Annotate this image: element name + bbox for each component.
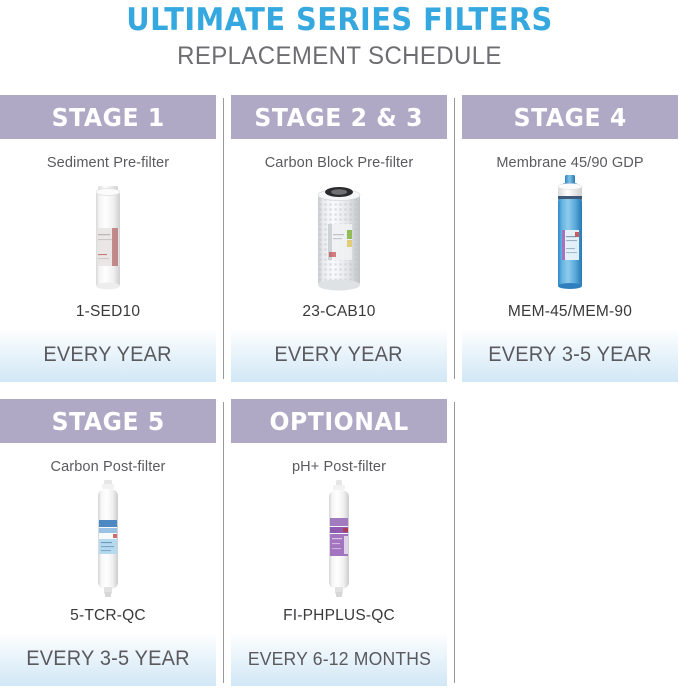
filter-row-2: STAGE 5 Carbon Post-filter	[0, 399, 679, 686]
filter-card-optional[interactable]: OPTIONAL pH+ Post-filter	[231, 399, 447, 686]
replacement-frequency: EVERY 6-12 MONTHS	[247, 648, 430, 670]
filter-type-label: Sediment Pre-filter	[3, 154, 213, 171]
replacement-frequency-band: EVERY 3-5 YEAR	[0, 632, 216, 686]
stage-title: STAGE 4	[513, 103, 626, 132]
model-number: FI-PHPLUS-QC	[234, 607, 444, 625]
stage-title: STAGE 2 & 3	[255, 103, 424, 132]
model-number: MEM-45/MEM-90	[465, 303, 675, 321]
replacement-frequency: EVERY 3-5 YEAR	[26, 647, 189, 671]
replacement-frequency: EVERY YEAR	[44, 343, 172, 367]
stage-header-bar: STAGE 5	[0, 399, 216, 443]
model-number: 5-TCR-QC	[3, 607, 213, 625]
stage-title: OPTIONAL	[269, 407, 408, 436]
stage-header-bar: STAGE 2 & 3	[231, 95, 447, 139]
replacement-frequency: EVERY YEAR	[275, 343, 403, 367]
model-number: 23-CAB10	[234, 303, 444, 321]
filter-card-stage-5[interactable]: STAGE 5 Carbon Post-filter	[0, 399, 216, 686]
filter-card-empty-placeholder	[462, 399, 678, 686]
sediment-filter-icon	[85, 182, 131, 294]
stage-header-bar: STAGE 1	[0, 95, 216, 139]
carbon-block-filter-icon	[308, 182, 370, 294]
page-subtitle: REPLACEMENT SCHEDULE	[14, 36, 666, 76]
filter-card-stage-1[interactable]: STAGE 1 Sediment Pre-filter	[0, 95, 216, 382]
stage-header-bar: STAGE 4	[462, 95, 678, 139]
filter-type-label: Carbon Post-filter	[3, 458, 213, 475]
filter-row-1: STAGE 1 Sediment Pre-filter	[0, 95, 679, 382]
page-header: ULTIMATE SERIES FILTERS REPLACEMENT SCHE…	[0, 0, 679, 76]
product-image-zone	[462, 179, 678, 294]
replacement-frequency-band: EVERY 3-5 YEAR	[462, 328, 678, 382]
filter-type-label: Membrane 45/90 GDP	[465, 154, 675, 171]
replacement-frequency-band: EVERY YEAR	[0, 328, 216, 382]
product-image-zone	[231, 179, 447, 294]
ro-membrane-icon	[550, 174, 590, 294]
stage-title: STAGE 1	[51, 103, 164, 132]
product-image-zone	[0, 179, 216, 294]
inline-ph-filter-icon	[320, 480, 358, 598]
filter-type-label: Carbon Block Pre-filter	[234, 154, 444, 171]
replacement-frequency: EVERY 3-5 YEAR	[488, 343, 651, 367]
model-number: 1-SED10	[3, 303, 213, 321]
stage-title: STAGE 5	[51, 407, 164, 436]
product-image-zone	[0, 483, 216, 598]
replacement-frequency-band: EVERY 6-12 MONTHS	[231, 632, 447, 686]
filter-card-stage-2-3[interactable]: STAGE 2 & 3 Carbon Block Pre-filter	[231, 95, 447, 382]
filter-type-label: pH+ Post-filter	[234, 458, 444, 475]
product-image-zone	[231, 483, 447, 598]
page-title: ULTIMATE SERIES FILTERS	[24, 4, 655, 36]
stage-header-bar: OPTIONAL	[231, 399, 447, 443]
filter-grid: STAGE 1 Sediment Pre-filter	[0, 95, 679, 686]
replacement-frequency-band: EVERY YEAR	[231, 328, 447, 382]
inline-carbon-filter-icon	[89, 480, 127, 598]
filter-card-stage-4[interactable]: STAGE 4 Membrane 45/90 GDP	[462, 95, 678, 382]
replacement-schedule-page: ULTIMATE SERIES FILTERS REPLACEMENT SCHE…	[0, 0, 679, 691]
